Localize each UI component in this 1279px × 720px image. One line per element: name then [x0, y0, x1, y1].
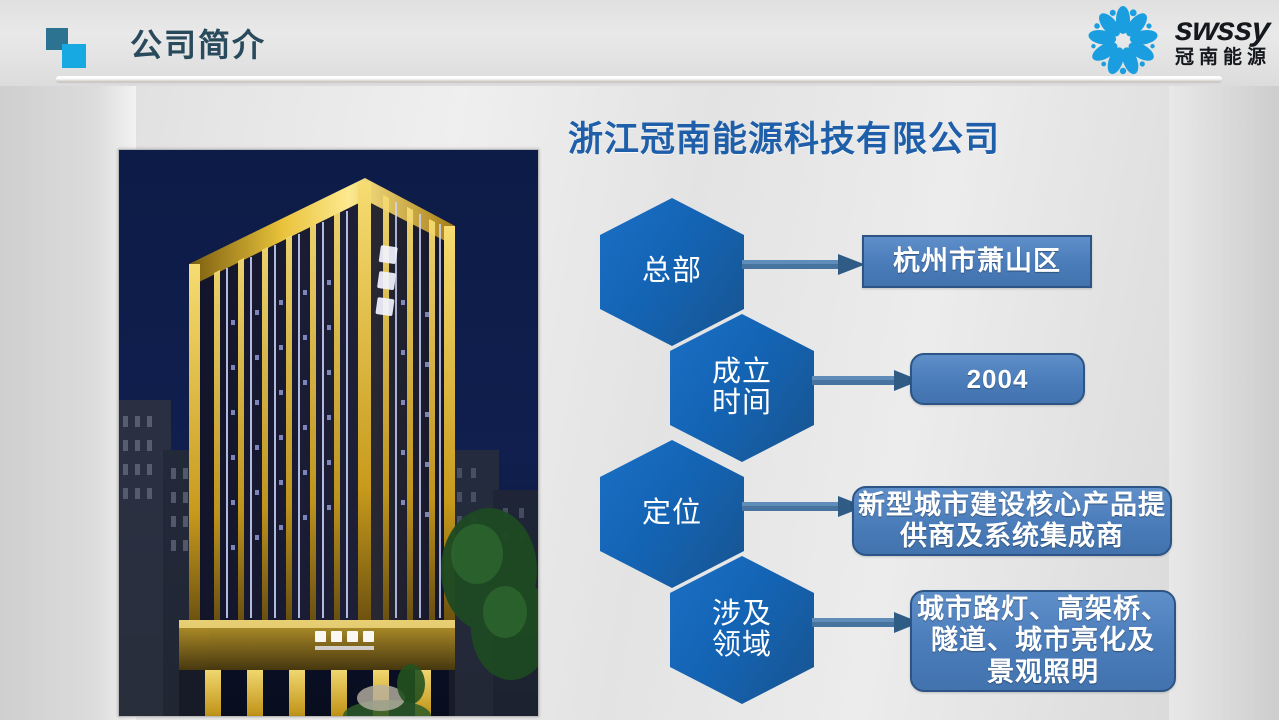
fact-value-text: 城市路灯、高架桥、 隧道、城市亮化及 景观照明 — [917, 594, 1169, 688]
header-divider — [56, 76, 1222, 82]
building-night-photo — [118, 149, 539, 717]
slide-header: 公司简介 — [0, 0, 1279, 86]
logo-chinese-text: 冠南能源 — [1175, 47, 1271, 70]
decorative-square-cyan-icon — [62, 44, 86, 68]
fact-value-headquarters[interactable]: 杭州市萧山区 — [862, 235, 1092, 288]
company-name-heading: 浙江冠南能源科技有限公司 — [568, 111, 1000, 162]
fact-value-fields[interactable]: 城市路灯、高架桥、 隧道、城市亮化及 景观照明 — [910, 590, 1176, 692]
logo-latin-text: swssy — [1174, 12, 1271, 47]
fact-arrow-fields — [812, 610, 922, 634]
page-title: 公司简介 — [130, 20, 266, 66]
fact-arrow-founded — [812, 368, 922, 392]
fact-value-positioning[interactable]: 新型城市建设核心产品提 供商及系统集成商 — [852, 486, 1172, 556]
fact-value-text: 新型城市建设核心产品提 供商及系统集成商 — [858, 490, 1166, 553]
fact-value-founded[interactable]: 2004 — [910, 353, 1085, 405]
fact-arrow-headquarters — [742, 252, 867, 276]
fact-value-text: 2004 — [967, 364, 1029, 395]
fact-hexagon-label: 成立 时间 — [712, 357, 772, 420]
background-band-left — [0, 0, 96, 720]
fact-hexagon-fields[interactable]: 涉及 领域 — [670, 556, 814, 704]
slide-canvas: 公司简介 — [0, 0, 1279, 720]
brand-logo: swssy 冠南能源 — [1077, 4, 1271, 78]
fact-hexagon-label: 涉及 领域 — [712, 599, 772, 662]
fact-hexagon-label: 定位 — [642, 498, 702, 529]
fact-arrow-positioning — [742, 494, 867, 518]
fact-value-text: 杭州市萧山区 — [893, 246, 1061, 277]
building-photo-graphic — [119, 150, 538, 716]
fact-hexagon-label: 总部 — [642, 256, 702, 287]
company-facts-diagram: 总部 杭州市萧山区 成立 时间 2004 — [560, 190, 1220, 720]
water-droplet-rosette-icon — [1077, 6, 1169, 76]
